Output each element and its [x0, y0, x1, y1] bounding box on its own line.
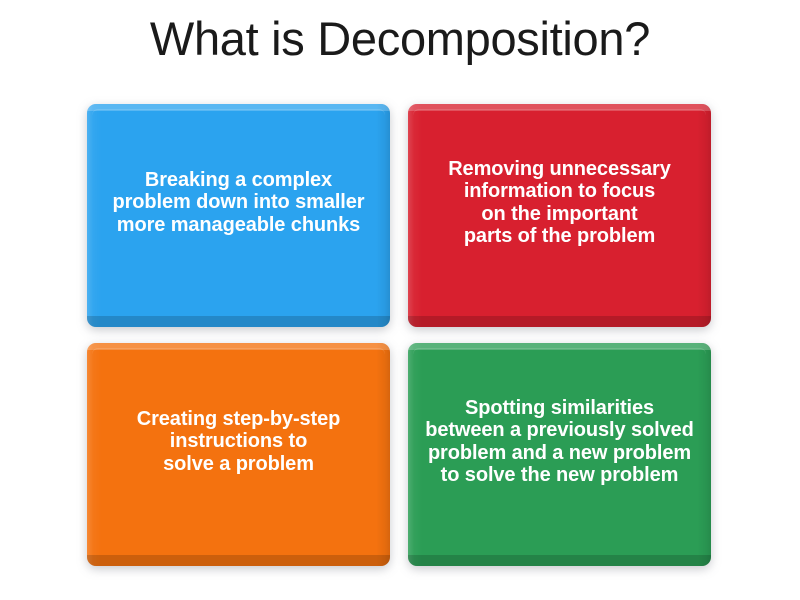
answer-text-red: Removing unnecessary information to focu…: [418, 104, 701, 327]
answer-text-blue: Breaking a complex problem down into sma…: [97, 104, 380, 327]
answer-card-red[interactable]: Removing unnecessary information to focu…: [408, 104, 711, 327]
answer-card-green[interactable]: Spotting similarities between a previous…: [408, 343, 711, 566]
answer-text-green: Spotting similarities between a previous…: [418, 343, 701, 566]
answer-card-orange[interactable]: Creating step-by-step instructions to so…: [87, 343, 390, 566]
answer-text-orange: Creating step-by-step instructions to so…: [97, 343, 380, 566]
answer-grid: Breaking a complex problem down into sma…: [87, 104, 713, 566]
page-title: What is Decomposition?: [0, 12, 800, 66]
answer-card-blue[interactable]: Breaking a complex problem down into sma…: [87, 104, 390, 327]
quiz-stage: What is Decomposition? Breaking a comple…: [0, 0, 800, 600]
